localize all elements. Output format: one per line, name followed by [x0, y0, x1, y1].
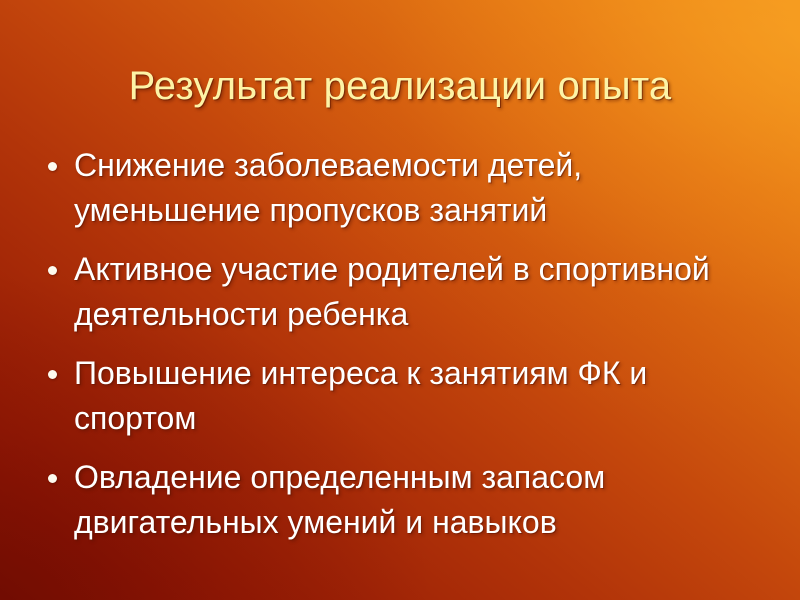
slide-content: Результат реализации опыта Снижение забо…: [0, 0, 800, 600]
bullet-item: Овладение определенным запасом двигатель…: [40, 455, 776, 545]
bullet-dot-icon: [48, 370, 57, 379]
bullet-dot-icon: [48, 162, 57, 171]
bullet-item-text: Снижение заболеваемости детей, уменьшени…: [74, 143, 776, 233]
bullet-item: Повышение интереса к занятиям ФК и спорт…: [40, 351, 776, 441]
bullet-dot-icon: [48, 266, 57, 275]
bullet-item-text: Повышение интереса к занятиям ФК и спорт…: [74, 351, 776, 441]
presentation-slide: Результат реализации опыта Снижение забо…: [0, 0, 800, 600]
bullet-list: Снижение заболеваемости детей, уменьшени…: [40, 143, 776, 545]
bullet-item: Снижение заболеваемости детей, уменьшени…: [40, 143, 776, 233]
bullet-dot-icon: [48, 474, 57, 483]
bullet-item: Активное участие родителей в спортивной …: [40, 247, 776, 337]
bullet-item-text: Овладение определенным запасом двигатель…: [74, 455, 776, 545]
slide-title: Результат реализации опыта: [40, 62, 760, 110]
bullet-item-text: Активное участие родителей в спортивной …: [74, 247, 776, 337]
